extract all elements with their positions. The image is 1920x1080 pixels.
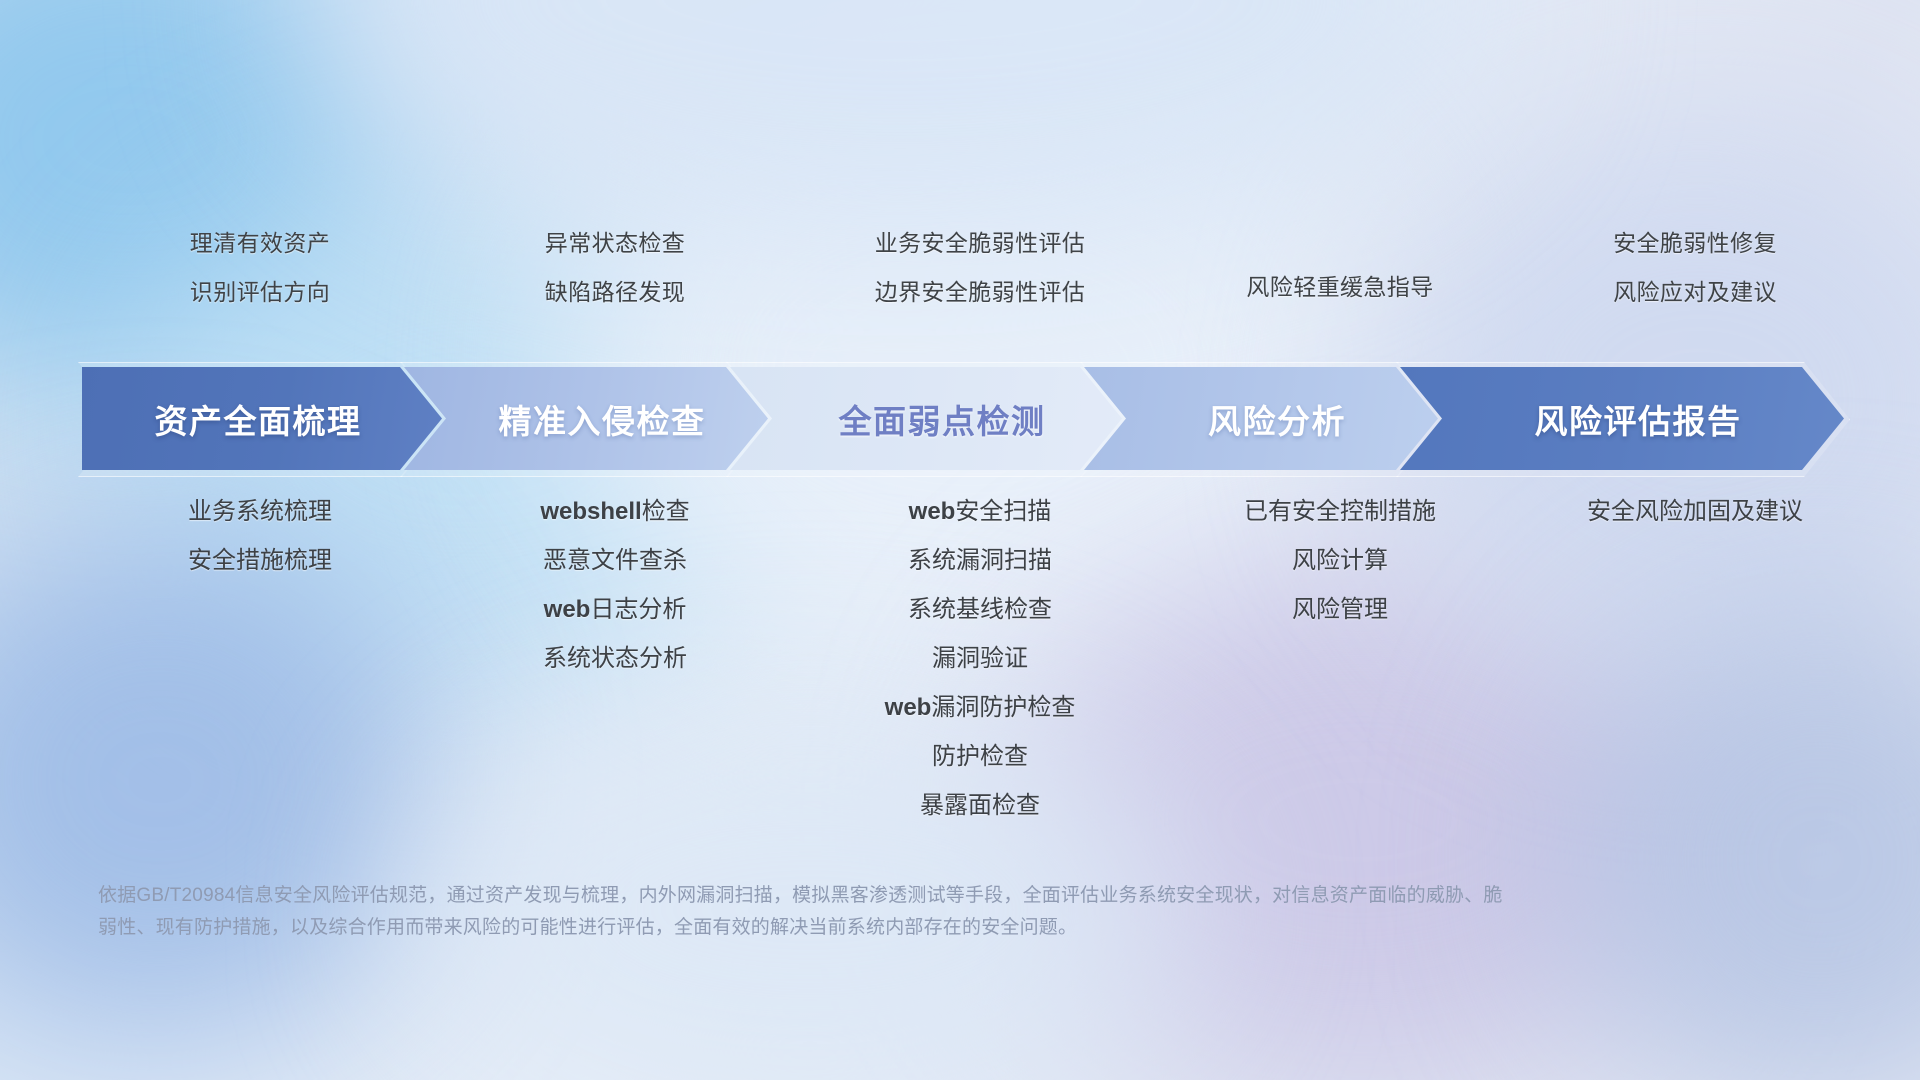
- top-captions-band: 理清有效资产 识别评估方向 异常状态检查 缺陷路径发现 业务安全脆弱性评估 边界…: [80, 232, 1880, 342]
- caption: 风险应对及建议: [1613, 281, 1777, 304]
- list-item: 风险计算: [1292, 549, 1388, 573]
- stage-arrow-band: 资产全面梳理 精准入侵检查 全面弱点检测 风险分析 风险评估报告: [82, 367, 1844, 470]
- top-captions-weakness-detection: 业务安全脆弱性评估 边界安全脆弱性评估: [790, 232, 1170, 342]
- list-item: 防护检查: [932, 745, 1028, 769]
- bottom-items-risk-analysis: 已有安全控制措施 风险计算 风险管理: [1170, 500, 1510, 843]
- stage-arrow-intrusion-check[interactable]: 精准入侵检查: [404, 367, 768, 470]
- stage-arrow-label: 资产全面梳理: [155, 395, 362, 443]
- list-item: web漏洞防护检查: [885, 696, 1076, 720]
- top-captions-intrusion-check: 异常状态检查 缺陷路径发现: [440, 232, 790, 342]
- stage-arrow-risk-report[interactable]: 风险评估报告: [1400, 367, 1844, 470]
- list-item: 系统基线检查: [908, 598, 1052, 622]
- caption: 缺陷路径发现: [545, 281, 685, 304]
- list-item: 安全风险加固及建议: [1587, 500, 1803, 524]
- top-captions-risk-report: 安全脆弱性修复 风险应对及建议: [1510, 232, 1880, 342]
- list-item: webshell检查: [540, 500, 689, 524]
- bottom-items-weakness-detection: web安全扫描 系统漏洞扫描 系统基线检查 漏洞验证 web漏洞防护检查 防护检…: [790, 500, 1170, 843]
- stage-arrow-label: 精准入侵检查: [499, 395, 706, 443]
- list-item: 漏洞验证: [932, 647, 1028, 671]
- caption: 异常状态检查: [545, 232, 685, 255]
- list-item: web日志分析: [544, 598, 687, 622]
- stage-arrow-label: 风险分析: [1208, 395, 1346, 443]
- caption: 边界安全脆弱性评估: [875, 281, 1086, 304]
- list-item: 业务系统梳理: [188, 500, 332, 524]
- footer-description: 依据GB/T20984信息安全风险评估规范，通过资产发现与梳理，内外网漏洞扫描，…: [98, 880, 1518, 944]
- top-captions-risk-analysis: 风险轻重缓急指导: [1170, 232, 1510, 342]
- list-item: 恶意文件查杀: [543, 549, 687, 573]
- list-item: web安全扫描: [909, 500, 1052, 524]
- top-captions-asset-inventory: 理清有效资产 识别评估方向: [80, 232, 440, 342]
- list-item: 暴露面检查: [920, 794, 1040, 818]
- caption: 理清有效资产: [190, 232, 330, 255]
- list-item: 系统漏洞扫描: [908, 549, 1052, 573]
- stage-arrow-label: 全面弱点检测: [839, 395, 1046, 443]
- list-item: 安全措施梳理: [188, 549, 332, 573]
- stage-arrow-weakness-detection[interactable]: 全面弱点检测: [730, 367, 1122, 470]
- caption: 识别评估方向: [190, 281, 330, 304]
- caption: 安全脆弱性修复: [1613, 232, 1777, 255]
- process-diagram: 理清有效资产 识别评估方向 异常状态检查 缺陷路径发现 业务安全脆弱性评估 边界…: [0, 0, 1920, 1080]
- stage-arrow-label: 风险评估报告: [1535, 395, 1742, 443]
- bottom-items-band: 业务系统梳理 安全措施梳理 webshell检查 恶意文件查杀 web日志分析 …: [80, 500, 1880, 843]
- caption: 业务安全脆弱性评估: [875, 232, 1086, 255]
- stage-arrow-asset-inventory[interactable]: 资产全面梳理: [82, 367, 442, 470]
- list-item: 风险管理: [1292, 598, 1388, 622]
- list-item: 已有安全控制措施: [1244, 500, 1436, 524]
- bottom-items-risk-report: 安全风险加固及建议: [1510, 500, 1880, 843]
- bottom-items-asset-inventory: 业务系统梳理 安全措施梳理: [80, 500, 440, 843]
- bottom-items-intrusion-check: webshell检查 恶意文件查杀 web日志分析 系统状态分析: [440, 500, 790, 843]
- stage-arrow-risk-analysis[interactable]: 风险分析: [1084, 367, 1438, 470]
- caption: 风险轻重缓急指导: [1246, 276, 1433, 299]
- list-item: 系统状态分析: [543, 647, 687, 671]
